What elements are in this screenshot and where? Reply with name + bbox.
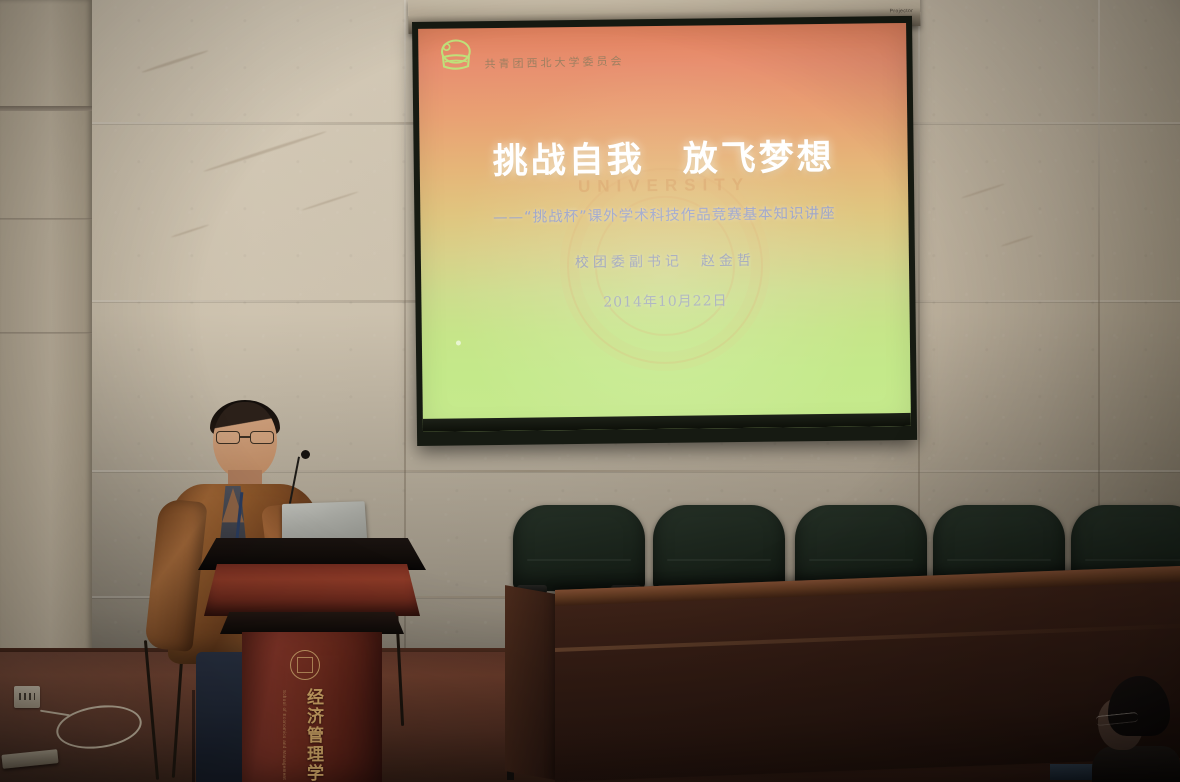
chair-crease <box>527 559 631 561</box>
screen-blemish <box>456 340 461 345</box>
chair-crease <box>947 559 1051 561</box>
glasses-bridge <box>240 436 250 438</box>
lectern-front-panel: 经济管理学院 School of Economics and Managemen… <box>242 632 382 782</box>
attendee-hair <box>1108 676 1170 736</box>
lectern: 经济管理学院 School of Economics and Managemen… <box>198 520 426 782</box>
outlet-sockets-icon <box>19 693 35 700</box>
chair-back <box>513 505 645 591</box>
lecture-hall-photo: Projector UNIVERSITY 共青团西北大学委员会 挑战自我 放飞梦… <box>0 0 1180 782</box>
chair-crease <box>809 559 913 561</box>
eyeglasses-icon <box>216 431 274 444</box>
lens-left <box>216 431 240 444</box>
slide-speaker-line: 校团委副书记 赵金哲 <box>421 248 909 274</box>
attendee <box>1092 676 1180 782</box>
slide-title: 挑战自我 放飞梦想 <box>419 128 908 185</box>
pillar-notch <box>0 106 92 111</box>
university-seal-icon <box>290 650 320 680</box>
screen-weight-bar <box>423 413 911 432</box>
pillar-notch <box>0 218 92 220</box>
projected-slide: UNIVERSITY 共青团西北大学委员会 挑战自我 放飞梦想 ——“挑战杯”课… <box>418 23 911 432</box>
microphone-icon <box>301 450 310 459</box>
table-groove <box>555 624 1180 652</box>
cyl-emblem-icon <box>437 38 474 79</box>
chair-crease <box>667 559 771 561</box>
lens-right <box>250 431 274 444</box>
pillar-notch <box>0 332 92 334</box>
lectern-shelf <box>220 612 404 634</box>
trouser-seam <box>192 690 195 782</box>
power-outlet[interactable] <box>14 686 40 708</box>
lectern-front-name-en: School of Economics and Management <box>282 690 287 780</box>
housing-brand-label: Projector <box>890 8 914 14</box>
slide-date: 2014年10月22日 <box>421 288 909 314</box>
projection-screen: UNIVERSITY 共青团西北大学委员会 挑战自我 放飞梦想 ——“挑战杯”课… <box>412 16 917 446</box>
attendee-body <box>1092 746 1180 782</box>
lectern-nameplate: 经济管理学院 School of Economics and Managemen… <box>204 564 420 616</box>
lectern-front-name-cn: 经济管理学院 <box>300 688 324 782</box>
chair-crease <box>1085 559 1180 561</box>
slide-subtitle: ——“挑战杯”课外学术科技作品竞赛基本知识讲座 <box>420 201 908 228</box>
conference-table <box>555 566 1180 782</box>
chair-back <box>653 505 785 591</box>
slide-organization: 共青团西北大学委员会 <box>484 53 624 72</box>
